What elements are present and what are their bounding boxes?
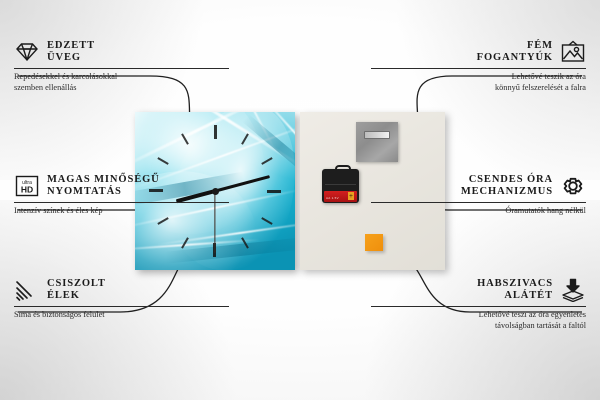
- feature-description: Sima és biztonságos felület: [14, 310, 229, 321]
- feature-title: CSENDES ÓRA MECHANIZMUS: [461, 174, 553, 198]
- feature-csiszolt-elek: CSISZOLT ÉLEK Sima és biztonságos felüle…: [14, 278, 229, 321]
- feature-title: HABSZIVACS ALÁTÉT: [477, 278, 553, 302]
- hanger-slot: [364, 131, 390, 139]
- diamond-icon: [14, 40, 40, 64]
- divider: [14, 68, 229, 69]
- divider: [14, 202, 229, 203]
- divider: [371, 306, 586, 307]
- divider: [14, 306, 229, 307]
- mechanism-body: AA 1.5V +: [322, 169, 359, 203]
- feature-description: Intenzív színek és éles kép: [14, 206, 229, 217]
- feature-csendes-ora-mechanizmus: CSENDES ÓRA MECHANIZMUS Óramutatók hang …: [371, 174, 586, 217]
- divider: [371, 68, 586, 69]
- svg-text:HD: HD: [21, 185, 33, 195]
- picture-hanger-icon: [560, 40, 586, 64]
- foam-pad-icon: [560, 278, 586, 302]
- feature-magas-minosegu-nyomtatas: ultra HD MAGAS MINŐSÉGŰ NYOMTATÁS Intenz…: [14, 174, 229, 217]
- feature-description: Óramutatók hang nélkül: [371, 206, 586, 217]
- foam-pad: [365, 234, 383, 251]
- polished-edge-icon: [14, 278, 40, 302]
- infographic-canvas: AA 1.5V + EDZETT ÜVEG Repedés: [0, 0, 600, 400]
- feature-title: FÉM FOGANTYÚK: [477, 40, 553, 64]
- feature-description: Repedésekkel és karcolásokkal szemben el…: [14, 72, 229, 93]
- feature-title: EDZETT ÜVEG: [47, 40, 95, 64]
- battery-label: AA 1.5V: [326, 196, 339, 200]
- feature-description: Lehetővé teszi az óra egyenletes távolsá…: [371, 310, 586, 331]
- divider: [371, 202, 586, 203]
- gear-icon: [560, 174, 586, 198]
- feature-fem-fogantyuk: FÉM FOGANTYÚK Lehetővé teszik az óra kön…: [371, 40, 586, 93]
- feature-description: Lehetővé teszik az óra könnyű felszerelé…: [371, 72, 586, 93]
- ultra-hd-icon: ultra HD: [14, 174, 40, 198]
- feature-edzett-uveg: EDZETT ÜVEG Repedésekkel és karcolásokka…: [14, 40, 229, 93]
- battery: AA 1.5V +: [324, 191, 357, 202]
- feature-title: MAGAS MINŐSÉGŰ NYOMTATÁS: [47, 174, 160, 198]
- battery-plus-terminal: +: [348, 192, 354, 200]
- feature-title: CSISZOLT ÉLEK: [47, 278, 106, 302]
- feature-habszivacs-alatet: HABSZIVACS ALÁTÉT Lehetővé teszi az óra …: [371, 278, 586, 331]
- metal-hanger-plate: [356, 122, 398, 162]
- clock-mechanism: AA 1.5V +: [322, 165, 359, 203]
